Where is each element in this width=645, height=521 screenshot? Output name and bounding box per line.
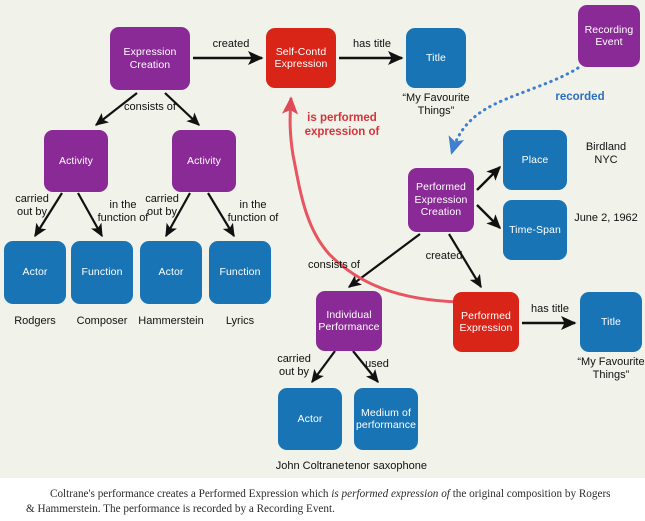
instance-label-time-span: June 2, 1962 xyxy=(574,212,638,225)
node-label: Time-Span xyxy=(509,224,561,237)
node-place[interactable]: Place xyxy=(503,130,567,190)
instance-label-hammerstein: Hammerstein xyxy=(131,315,211,328)
node-label: Recording Event xyxy=(580,24,638,49)
edge-label-used: used xyxy=(357,358,397,371)
node-label: Individual Performance xyxy=(318,309,380,334)
instance-label-lyrics: Lyrics xyxy=(204,315,276,328)
node-recording-event[interactable]: Recording Event xyxy=(578,5,640,67)
instance-label-title-original: “My Favourite Things” xyxy=(393,92,479,118)
node-label: Actor xyxy=(158,266,183,279)
diagram-canvas: Expression Creation Self-Contd Expressio… xyxy=(0,0,645,478)
node-actor-coltrane[interactable]: Actor xyxy=(278,388,342,450)
instance-label-title-performed: “My Favourite Things” xyxy=(568,356,645,382)
node-function-lyrics[interactable]: Function xyxy=(209,241,271,304)
node-expression-creation[interactable]: Expression Creation xyxy=(110,27,190,90)
caption-part-1: Coltrane's performance creates a Perform… xyxy=(50,488,331,500)
node-activity-right[interactable]: Activity xyxy=(172,130,236,192)
node-label: Performed Expression xyxy=(455,310,517,335)
node-label: Place xyxy=(522,154,549,167)
edge-label-carried-out-by-1: carried out by xyxy=(8,193,56,218)
node-label: Function xyxy=(219,266,260,279)
node-individual-performance[interactable]: Individual Performance xyxy=(316,291,382,351)
node-label: Medium of performance xyxy=(356,407,416,432)
node-label: Self-Contd Expression xyxy=(268,46,334,71)
edge-label-recorded: recorded xyxy=(548,90,612,104)
node-title-original[interactable]: Title xyxy=(406,28,466,88)
edge-label-created-bottom: created xyxy=(413,250,475,263)
node-time-span[interactable]: Time-Span xyxy=(503,200,567,260)
node-self-contd-expression[interactable]: Self-Contd Expression xyxy=(266,28,336,88)
node-activity-left[interactable]: Activity xyxy=(44,130,108,192)
edge-label-is-performed-expression-of: is performed expression of xyxy=(296,111,388,139)
node-performed-expression[interactable]: Performed Expression xyxy=(453,292,519,352)
instance-label-composer: Composer xyxy=(66,315,138,328)
node-label: Function xyxy=(81,266,122,279)
node-label: Actor xyxy=(22,266,47,279)
edge-took-place-at xyxy=(477,167,500,190)
edge-label-in-the-function-of-2: in the function of xyxy=(222,199,284,224)
node-title-performed[interactable]: Title xyxy=(580,292,642,352)
instance-label-tenor-saxophone: tenor saxophone xyxy=(345,460,427,473)
node-label: Performed Expression Creation xyxy=(410,181,472,219)
edge-label-carried-out-by-2: carried out by xyxy=(138,193,186,218)
instance-label-place: Birdland NYC xyxy=(574,141,638,167)
node-performed-expression-creation[interactable]: Performed Expression Creation xyxy=(408,168,474,232)
figure: Expression Creation Self-Contd Expressio… xyxy=(0,0,645,521)
node-function-composer[interactable]: Function xyxy=(71,241,133,304)
edge-label-carried-out-by-3: carried out by xyxy=(270,353,318,378)
edge-label-created-top: created xyxy=(198,38,264,51)
node-medium-of-performance[interactable]: Medium of performance xyxy=(354,388,418,450)
edge-label-has-title-top: has title xyxy=(341,38,403,51)
node-label: Title xyxy=(426,52,446,65)
caption-emphasis: is performed expression of xyxy=(331,488,450,500)
figure-caption: Coltrane's performance creates a Perform… xyxy=(0,478,645,521)
edge-label-consists-of-top: consists of xyxy=(105,101,195,114)
node-label: Actor xyxy=(297,413,322,426)
node-actor-hammerstein[interactable]: Actor xyxy=(140,241,202,304)
edge-has-time-span xyxy=(477,205,500,228)
edge-label-consists-of-bottom: consists of xyxy=(294,259,374,272)
node-actor-rodgers[interactable]: Actor xyxy=(4,241,66,304)
instance-label-john-coltrane: John Coltrane xyxy=(268,460,352,473)
node-label: Expression Creation xyxy=(112,46,188,71)
node-label: Activity xyxy=(187,155,221,168)
edge-label-has-title-bottom: has title xyxy=(521,303,579,316)
node-label: Title xyxy=(601,316,621,329)
node-label: Activity xyxy=(59,155,93,168)
instance-label-rodgers: Rodgers xyxy=(0,315,71,328)
